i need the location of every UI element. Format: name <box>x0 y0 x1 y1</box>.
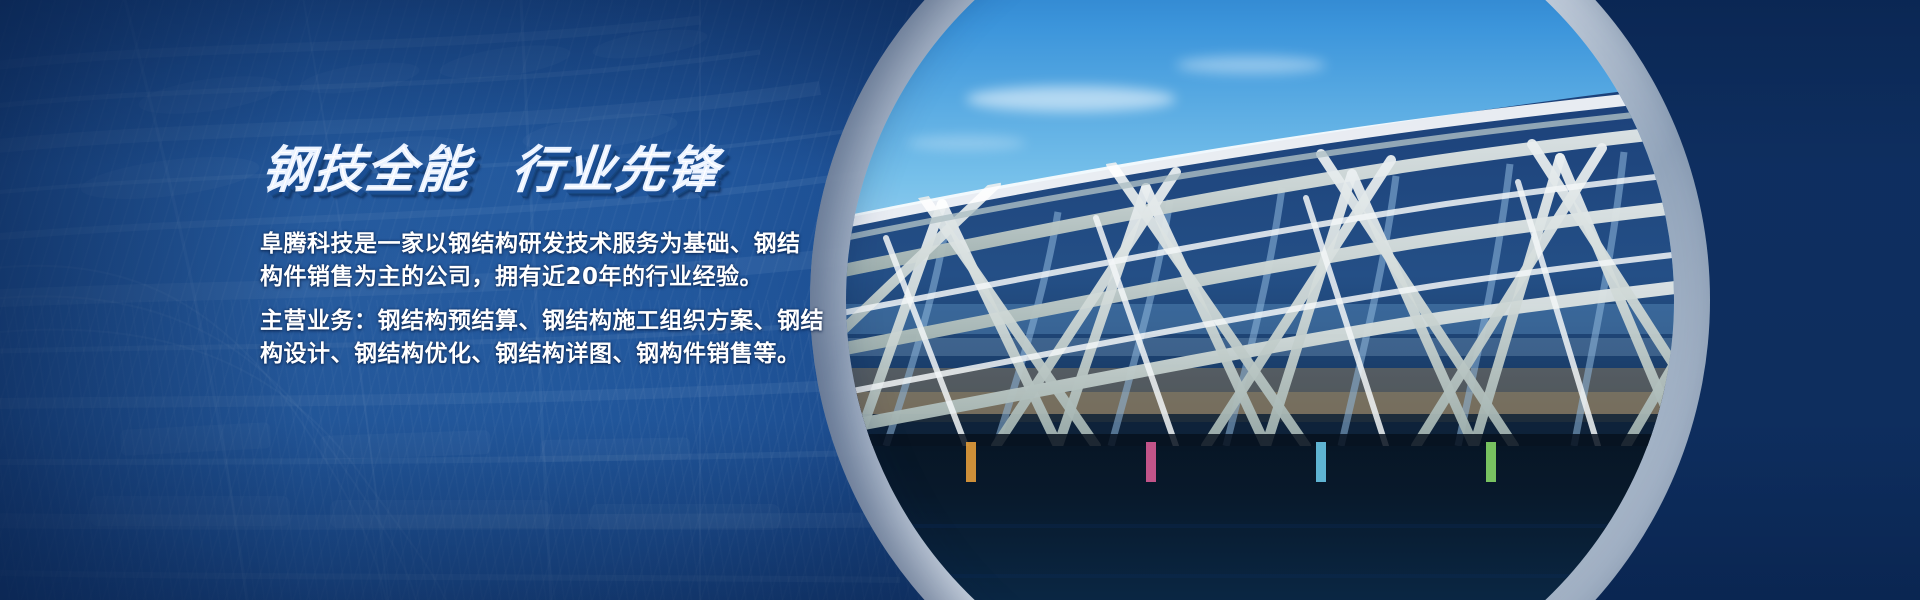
page-title: 钢技全能行业先锋 <box>259 145 722 195</box>
services-paragraph: 主营业务：钢结构预结算、钢结构施工组织方案、钢结 构设计、钢结构优化、钢结构详图… <box>260 305 824 371</box>
hero-banner: 钢技全能行业先锋 阜腾科技是一家以钢结构研发技术服务为基础、钢结 构件销售为主的… <box>0 0 1920 600</box>
intro-paragraph: 阜腾科技是一家以钢结构研发技术服务为基础、钢结 构件销售为主的公司，拥有近20年… <box>260 228 801 294</box>
headline-part-2: 行业先锋 <box>509 141 723 199</box>
circular-photo-module <box>810 0 1920 600</box>
stadium-photo <box>846 0 1674 600</box>
banner-content: 钢技全能行业先锋 阜腾科技是一家以钢结构研发技术服务为基础、钢结 构件销售为主的… <box>0 0 880 600</box>
stadium-photo-scene <box>846 0 1674 600</box>
headline-part-1: 钢技全能 <box>259 141 473 199</box>
stadium-lattice <box>846 0 1674 600</box>
